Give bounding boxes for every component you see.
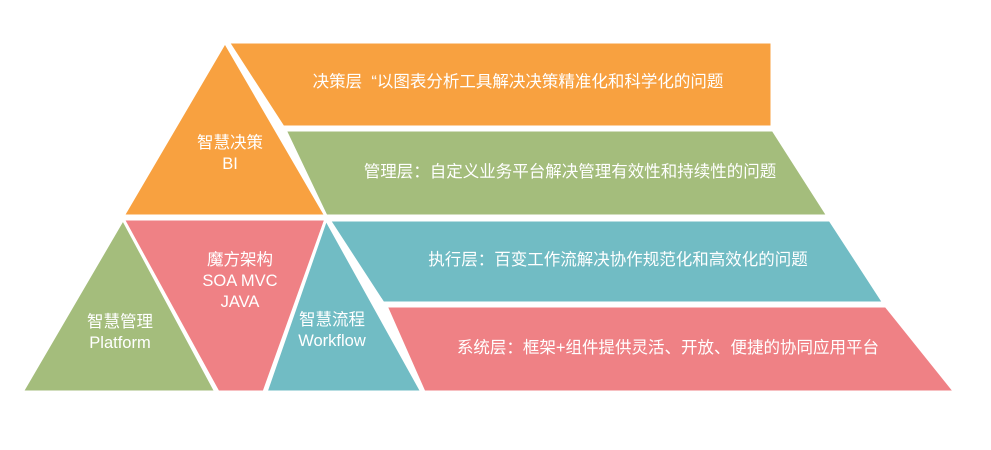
pyramid-diagram: 决策层 “以图表分析工具解决决策精准化和科学化的问题 管理层：自定义业务平台解决… — [0, 0, 991, 450]
pyramid-canvas — [0, 0, 991, 450]
band-system[interactable] — [386, 306, 955, 392]
band-execution[interactable] — [329, 220, 884, 303]
band-management[interactable] — [285, 130, 828, 216]
band-decision[interactable] — [228, 42, 772, 127]
